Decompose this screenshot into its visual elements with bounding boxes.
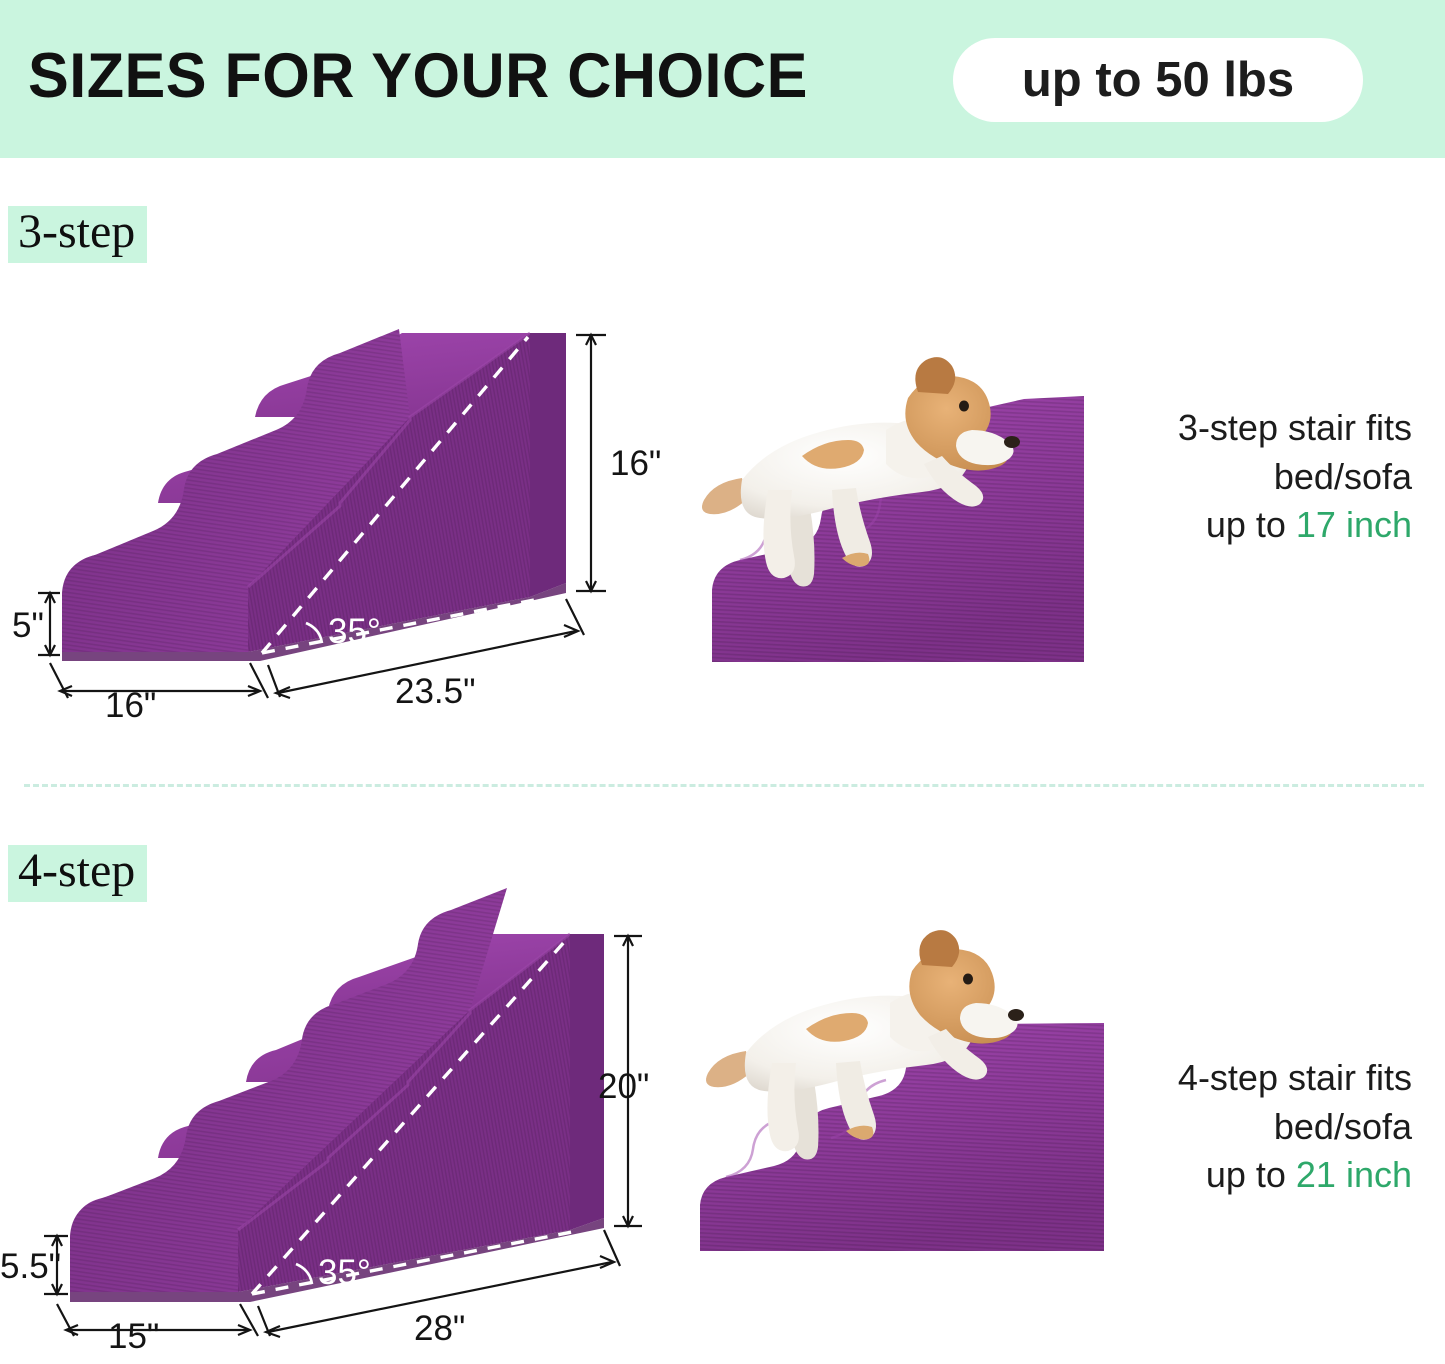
dog-nose <box>1004 436 1020 448</box>
description-3-step-prefix: up to <box>1206 504 1296 545</box>
description-3-step-line3: up to 17 inch <box>1112 501 1412 550</box>
description-4-step-prefix: up to <box>1206 1154 1296 1195</box>
dog4-eye <box>963 974 973 985</box>
photo-3-step-dog <box>672 290 1092 670</box>
dog-ear <box>915 357 955 394</box>
depth-label-3step: 16" <box>105 686 156 725</box>
description-3-step-accent: 17 inch <box>1296 504 1412 545</box>
dog4-ear <box>919 930 959 967</box>
length-label-4step: 28" <box>414 1309 465 1348</box>
step-height-label-3step: 5" <box>12 606 44 645</box>
weight-capacity-badge: up to 50 lbs <box>953 38 1363 122</box>
description-4-step: 4-step stair fits bed/sofa up to 21 inch <box>1112 1054 1412 1200</box>
section-tag-3-step: 3-step <box>8 206 147 263</box>
photo-4-step-dog <box>690 875 1110 1255</box>
dog-eye <box>959 401 969 412</box>
page-title: SIZES FOR YOUR CHOICE <box>28 40 808 112</box>
description-4-step-accent: 21 inch <box>1296 1154 1412 1195</box>
weight-capacity-label: up to 50 lbs <box>1022 52 1294 108</box>
description-3-step-line1: 3-step stair fits <box>1112 404 1412 453</box>
stair-back-face <box>530 333 566 597</box>
dog4-tail <box>706 1051 750 1087</box>
angle-label-4step: 35° <box>318 1253 371 1292</box>
figure-4-step-diagram: 35° 20" 5.5" 15" 28" <box>10 930 650 1350</box>
figure-3-step-diagram: 35° 16" 5" 16" 23.5" <box>10 325 630 725</box>
dog-tail <box>702 478 746 514</box>
description-4-step-line2: bed/sofa <box>1112 1103 1412 1152</box>
description-3-step: 3-step stair fits bed/sofa up to 17 inch <box>1112 404 1412 550</box>
height-label-4step: 20" <box>598 1067 649 1106</box>
dog-rear-leg-near <box>763 490 794 578</box>
step-height-label-4step: 5.5" <box>0 1247 61 1286</box>
dog4-rear-leg-near <box>767 1063 798 1151</box>
height-label-3step: 16" <box>610 444 661 483</box>
section-tag-4-step: 4-step <box>8 845 147 902</box>
angle-label-3step: 35° <box>328 612 381 651</box>
dog4-nose <box>1008 1009 1024 1021</box>
length-label-3step: 23.5" <box>395 672 476 711</box>
section-divider <box>24 784 1424 787</box>
description-3-step-line2: bed/sofa <box>1112 453 1412 502</box>
description-4-step-line3: up to 21 inch <box>1112 1151 1412 1200</box>
depth-ext-lines-3 <box>50 663 268 698</box>
depth-label-4step: 15" <box>108 1317 159 1356</box>
description-4-step-line1: 4-step stair fits <box>1112 1054 1412 1103</box>
